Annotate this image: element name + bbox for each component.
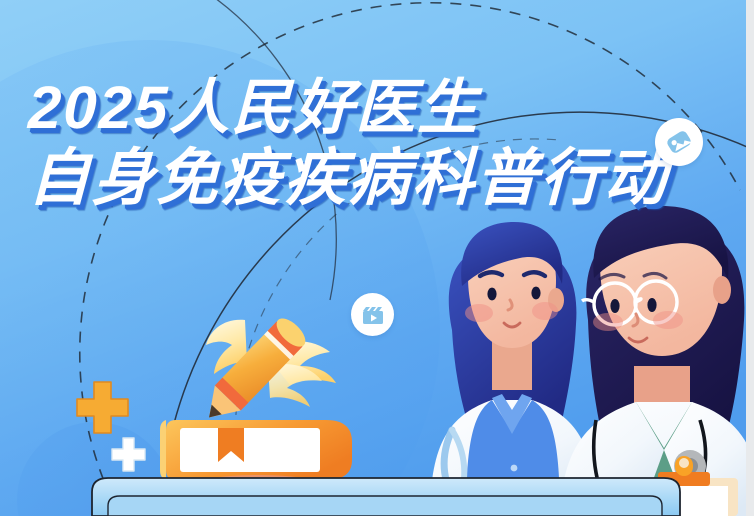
image-badge-icon[interactable] bbox=[655, 118, 703, 166]
doctor-back-eye-right bbox=[531, 287, 540, 300]
book-pages bbox=[180, 428, 320, 472]
doctor-back-blush-right bbox=[532, 302, 558, 320]
clipboard-clip-hole bbox=[679, 458, 689, 468]
doctor-back-button-1 bbox=[511, 465, 518, 472]
doctor-front-eye-right bbox=[647, 298, 656, 312]
video-badge-icon[interactable] bbox=[351, 293, 394, 336]
clapperboard-play-icon bbox=[360, 302, 386, 328]
doctor-back-blush-left bbox=[465, 304, 493, 322]
campaign-banner: 2025人民好医生 自身免疫疾病科普行动 bbox=[0, 0, 754, 516]
doctor-front-ear bbox=[713, 276, 731, 304]
doctor-back-eye-left bbox=[487, 288, 496, 301]
desk-front bbox=[108, 496, 662, 516]
desk-bar bbox=[92, 478, 680, 516]
illustration-canvas bbox=[0, 0, 754, 516]
photo-icon bbox=[664, 127, 694, 157]
doctor-front-eye-left bbox=[610, 299, 619, 313]
right-edge-gutter bbox=[746, 0, 754, 516]
doctor-front-blush-left bbox=[593, 313, 623, 331]
book-spine bbox=[160, 420, 166, 480]
doctor-front-blush-right bbox=[653, 311, 683, 329]
